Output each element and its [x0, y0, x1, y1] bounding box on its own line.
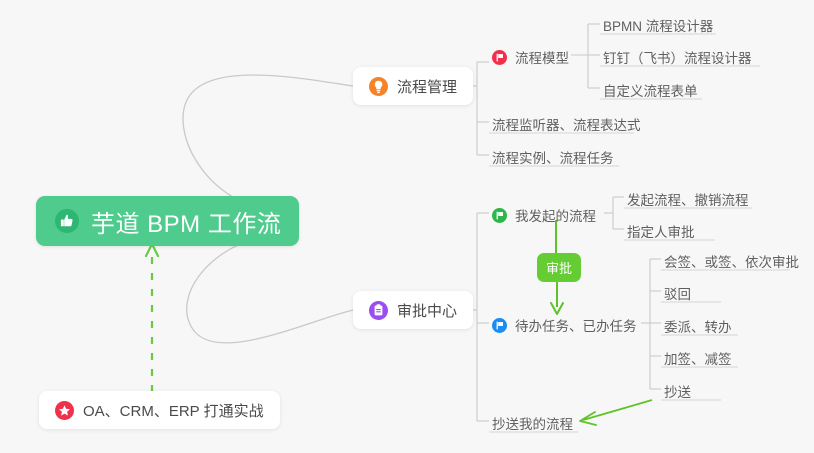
node-reject[interactable]: 驳回 — [661, 277, 693, 304]
label-dingtalk-feishu-designer: 钉钉（飞书）流程设计器 — [603, 52, 752, 66]
label-delegate-transfer: 委派、转办 — [664, 321, 732, 335]
label-start-cancel-process: 发起流程、撤销流程 — [627, 194, 749, 208]
flag-icon — [492, 50, 507, 65]
flag-icon — [492, 318, 507, 333]
branch-label-process-management: 流程管理 — [397, 76, 457, 97]
node-cc-to-me-process[interactable]: 抄送我的流程 — [489, 407, 575, 434]
node-cc[interactable]: 抄送 — [661, 375, 693, 402]
lightbulb-icon — [369, 77, 388, 96]
branch-node-process-management[interactable]: 流程管理 — [353, 67, 473, 105]
label-countersign-orsign-sequential: 会签、或签、依次审批 — [664, 256, 799, 270]
node-delegate-transfer[interactable]: 委派、转办 — [661, 310, 734, 337]
node-process-listener-expression[interactable]: 流程监听器、流程表达式 — [489, 108, 643, 135]
annotation-badge-label: 审批 — [546, 258, 572, 277]
label-process-model: 流程模型 — [515, 52, 569, 66]
node-designated-approver[interactable]: 指定人审批 — [624, 215, 697, 242]
node-process-model[interactable]: 流程模型 — [489, 41, 571, 68]
label-custom-process-form: 自定义流程表单 — [603, 85, 698, 99]
label-add-remove-sign: 加签、减签 — [664, 353, 732, 367]
flag-icon — [492, 208, 507, 223]
bottom-note-label: OA、CRM、ERP 打通实战 — [83, 400, 264, 421]
root-node[interactable]: 芋道 BPM 工作流 — [36, 196, 299, 246]
label-todo-done-task: 待办任务、已办任务 — [515, 320, 637, 334]
label-my-initiated-process: 我发起的流程 — [515, 210, 596, 224]
node-bpmn-designer[interactable]: BPMN 流程设计器 — [600, 9, 715, 36]
root-label: 芋道 BPM 工作流 — [91, 204, 281, 239]
mindmap-canvas: 芋道 BPM 工作流 流程管理 流程模型 BPMN 流程设计器 钉 — [0, 0, 814, 453]
node-add-remove-sign[interactable]: 加签、减签 — [661, 342, 734, 369]
node-dingtalk-feishu-designer[interactable]: 钉钉（飞书）流程设计器 — [600, 41, 754, 68]
label-designated-approver: 指定人审批 — [627, 226, 695, 240]
wire-root-to-process-management — [183, 75, 353, 210]
annotation-arrow-cc — [583, 400, 652, 420]
label-cc: 抄送 — [664, 386, 691, 400]
label-process-listener-expression: 流程监听器、流程表达式 — [492, 119, 641, 133]
node-todo-done-task[interactable]: 待办任务、已办任务 — [489, 309, 639, 336]
clipboard-icon — [369, 301, 388, 320]
wire-root-to-approval-center — [187, 234, 353, 343]
node-custom-process-form[interactable]: 自定义流程表单 — [600, 74, 700, 101]
branch-node-approval-center[interactable]: 审批中心 — [353, 291, 473, 329]
annotation-badge-approval: 审批 — [537, 253, 581, 282]
label-reject: 驳回 — [664, 288, 691, 302]
node-start-cancel-process[interactable]: 发起流程、撤销流程 — [624, 183, 751, 210]
node-my-initiated-process[interactable]: 我发起的流程 — [489, 199, 598, 226]
label-cc-to-me-process: 抄送我的流程 — [492, 418, 573, 432]
star-icon — [55, 401, 74, 420]
node-countersign-orsign-sequential[interactable]: 会签、或签、依次审批 — [661, 245, 801, 272]
annotation-arrowhead-cc — [580, 412, 596, 425]
label-bpmn-designer: BPMN 流程设计器 — [603, 20, 713, 34]
thumbs-up-icon — [54, 208, 80, 234]
branch-label-approval-center: 审批中心 — [397, 300, 457, 321]
bottom-note-card[interactable]: OA、CRM、ERP 打通实战 — [39, 391, 280, 429]
node-process-instance-task[interactable]: 流程实例、流程任务 — [489, 141, 616, 168]
label-process-instance-task: 流程实例、流程任务 — [492, 152, 614, 166]
